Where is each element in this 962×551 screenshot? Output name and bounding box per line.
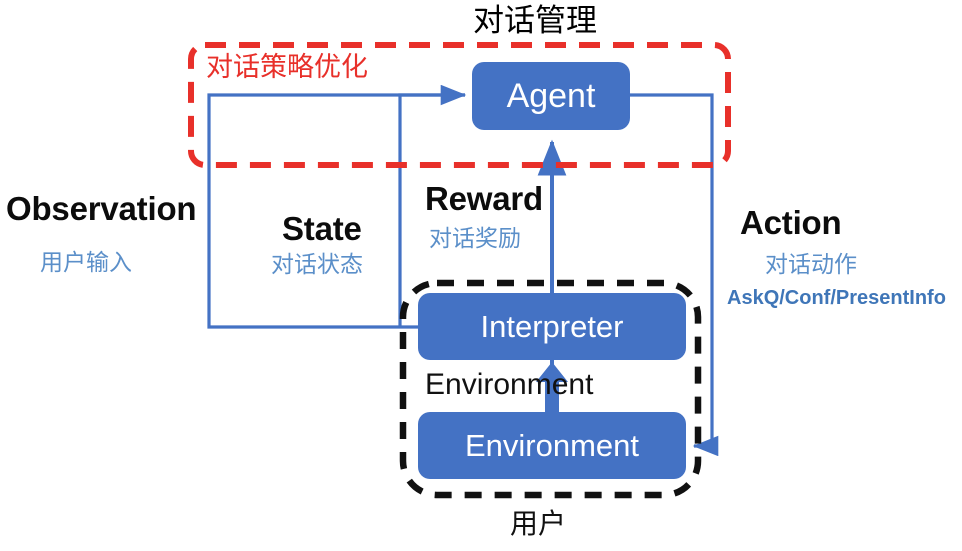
edge-action <box>630 95 712 446</box>
node-environment-label: Environment <box>418 412 686 479</box>
diagram-canvas: Agent Interpreter Environment 对话管理 对话策略优… <box>0 0 962 551</box>
edge-state-label-cn: 对话状态 <box>271 252 363 276</box>
edge-reward-label-en: Reward <box>425 182 543 217</box>
diagram-title: 对话管理 <box>473 5 597 38</box>
edge-action-label-en: Action <box>740 206 841 241</box>
environment-group-label: Environment <box>425 369 593 401</box>
edge-observation-label-cn: 用户输入 <box>40 250 132 274</box>
edge-observation-label-en: Observation <box>6 192 196 227</box>
policy-optimization-label: 对话策略优化 <box>206 53 368 81</box>
edge-state-label-en: State <box>282 212 362 247</box>
edge-action-label-detail: AskQ/Conf/PresentInfo <box>727 288 946 309</box>
edge-reward-label-cn: 对话奖励 <box>429 226 521 250</box>
node-interpreter-label: Interpreter <box>418 293 686 360</box>
node-agent-label: Agent <box>472 62 630 130</box>
edge-action-label-cn: 对话动作 <box>765 252 857 276</box>
diagram-caption: 用户 <box>510 509 566 538</box>
